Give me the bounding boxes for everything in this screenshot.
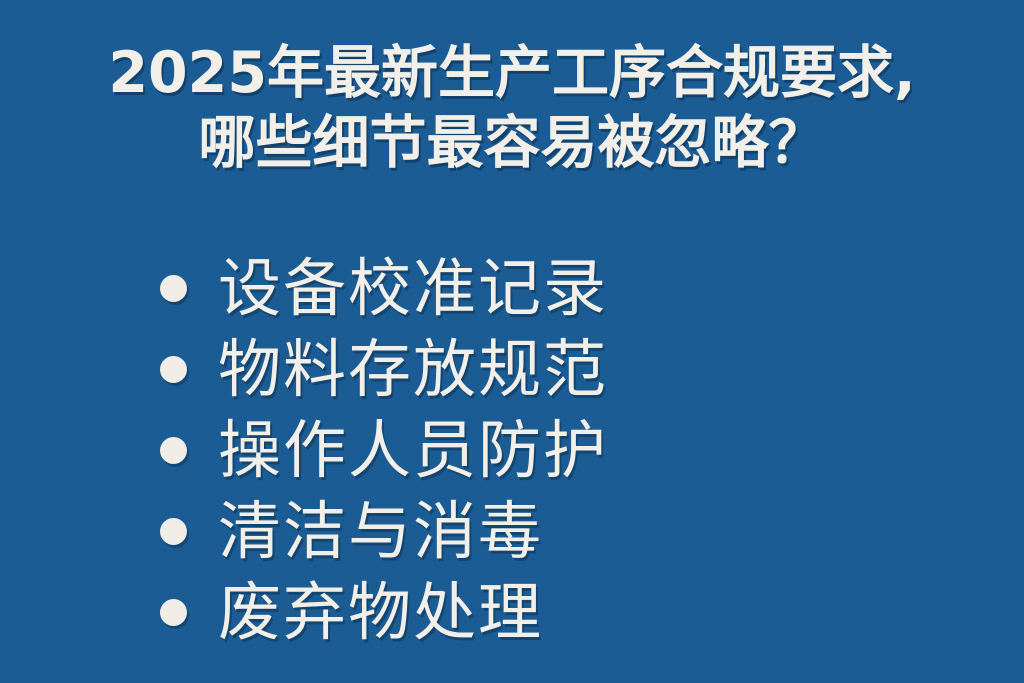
filled-circle-bullet-icon bbox=[160, 518, 187, 545]
slide-title: 2025年最新生产工序合规要求, 哪些细节最容易被忽略？ bbox=[0, 38, 1024, 178]
list-item: 物料存放规范 bbox=[160, 329, 860, 410]
title-line-2: 哪些细节最容易被忽略？ bbox=[0, 108, 1024, 178]
list-item: 废弃物处理 bbox=[160, 572, 860, 653]
list-item: 清洁与消毒 bbox=[160, 491, 860, 572]
list-item-label: 物料存放规范 bbox=[218, 334, 608, 406]
slide-canvas: 2025年最新生产工序合规要求, 哪些细节最容易被忽略？ 设备校准记录 物料存放… bbox=[0, 0, 1024, 683]
filled-circle-bullet-icon bbox=[160, 275, 187, 302]
filled-circle-bullet-icon bbox=[160, 437, 187, 464]
list-item-label: 清洁与消毒 bbox=[218, 496, 543, 568]
list-item-label: 废弃物处理 bbox=[218, 577, 543, 649]
bullet-list: 设备校准记录 物料存放规范 操作人员防护 清洁与消毒 废弃物处理 bbox=[160, 248, 860, 653]
list-item-label: 设备校准记录 bbox=[218, 253, 608, 325]
filled-circle-bullet-icon bbox=[160, 599, 187, 626]
list-item-label: 操作人员防护 bbox=[218, 415, 608, 487]
filled-circle-bullet-icon bbox=[160, 356, 187, 383]
title-line-1: 2025年最新生产工序合规要求, bbox=[0, 38, 1024, 108]
list-item: 设备校准记录 bbox=[160, 248, 860, 329]
list-item: 操作人员防护 bbox=[160, 410, 860, 491]
